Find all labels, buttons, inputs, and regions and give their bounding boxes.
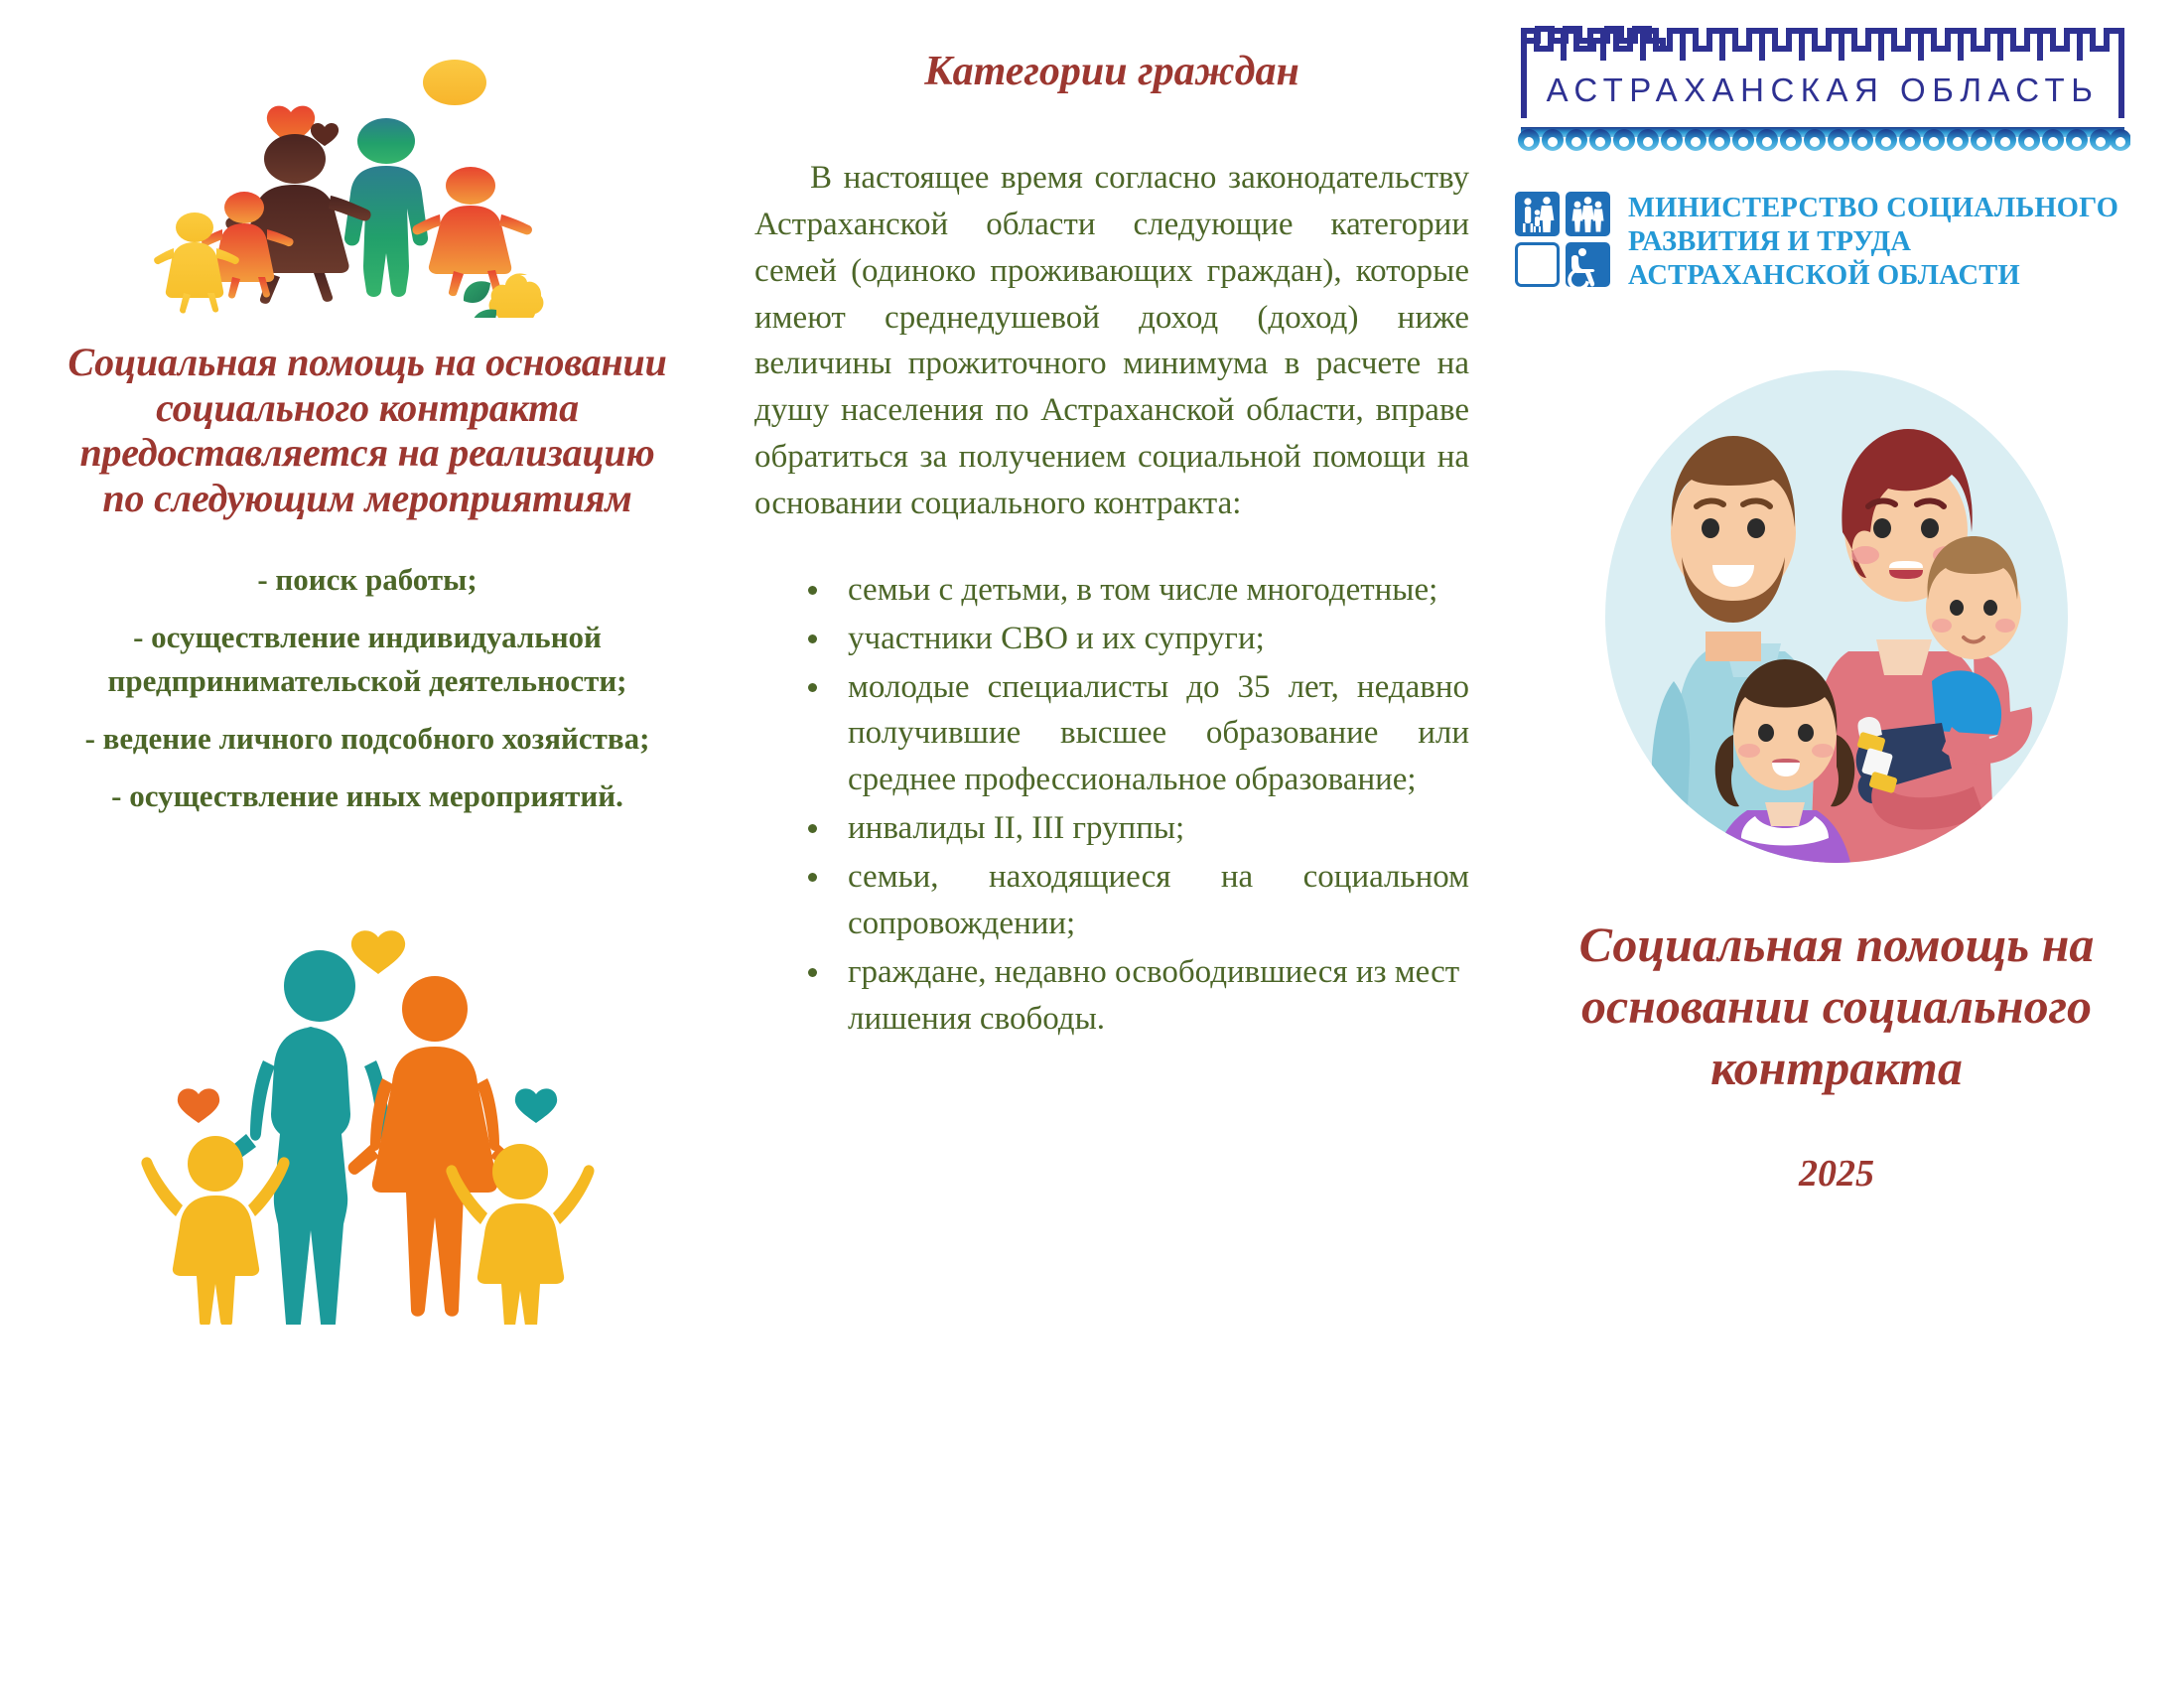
left-panel-title: Социальная помощь на основании социально… (65, 340, 670, 520)
father-pictogram (284, 950, 355, 1022)
categories-heading: Категории граждан (754, 48, 1469, 95)
wave-ornament (1518, 127, 2130, 151)
category-item: молодые специалисты до 35 лет, недавно п… (806, 664, 1469, 804)
ministry-line-3: АСТРАХАНСКОЙ ОБЛАСТИ (1628, 259, 2118, 293)
child-right-pictogram (492, 1144, 548, 1199)
ministry-name: МИНИСТЕРСТВО СОЦИАЛЬНОГО РАЗВИТИЯ И ТРУД… (1628, 192, 2118, 294)
brochure-year: 2025 (1499, 1152, 2174, 1196)
leaf-icon-2 (472, 310, 497, 318)
category-item: семьи, находящиеся на социальном сопрово… (806, 854, 1469, 947)
cartoon-family-portrait (1578, 353, 2095, 880)
categories-paragraph: В настоящее время согласно законодательс… (754, 155, 1469, 527)
child-left-pictogram (188, 1136, 243, 1192)
blank-square-icon (1517, 244, 1559, 286)
measures-list: - поиск работы; - осуществление индивиду… (10, 558, 725, 818)
measure-item: - осуществление индивидуальной предприни… (10, 616, 725, 703)
heart-yellow-icon (351, 931, 405, 975)
family-pictogram-illustration (129, 908, 606, 1325)
measure-item: - поиск работы; (10, 558, 725, 602)
heart-teal-icon (515, 1089, 557, 1124)
category-item: граждане, недавно освободившиеся из мест… (806, 949, 1469, 1043)
left-panel: Социальная помощь на основании социально… (0, 0, 735, 1688)
category-item: семьи с детьми, в том числе многодетные; (806, 567, 1469, 614)
brochure-page: Социальная помощь на основании социально… (0, 0, 2184, 1688)
mother-pictogram (402, 976, 468, 1042)
leaf-icon (464, 281, 490, 303)
brochure-title: Социальная помощь на основании социально… (1509, 914, 2164, 1098)
measure-item: - ведение личного подсобного хозяйства; (10, 717, 725, 761)
family-with-children-illustration (149, 20, 586, 318)
ministry-logo-mark (1515, 192, 1610, 287)
categories-list: семьи с детьми, в том числе многодетные;… (754, 567, 1469, 1043)
middle-panel: Категории граждан В настоящее время согл… (735, 0, 1489, 1688)
astrakhan-region-logo-text: АСТРАХАНСКАЯ ОБЛАСТЬ (1547, 71, 2100, 108)
sun-icon (423, 60, 486, 105)
ministry-branding: МИНИСТЕРСТВО СОЦИАЛЬНОГО РАЗВИТИЯ И ТРУД… (1515, 192, 2174, 294)
ministry-line-1: МИНИСТЕРСТВО СОЦИАЛЬНОГО (1628, 192, 2118, 225)
category-item: участники СВО и их супруги; (806, 616, 1469, 662)
ministry-line-2: РАЗВИТИЯ И ТРУДА (1628, 225, 2118, 259)
astrakhan-region-logo: АСТРАХАНСКАЯ ОБЛАСТЬ (1515, 16, 2130, 160)
right-panel: АСТРАХАНСКАЯ ОБЛАСТЬ (1489, 0, 2184, 1688)
heart-orange-icon (178, 1089, 219, 1124)
measure-item: - осуществление иных мероприятий. (10, 774, 725, 818)
category-item: инвалиды II, III группы; (806, 805, 1469, 852)
